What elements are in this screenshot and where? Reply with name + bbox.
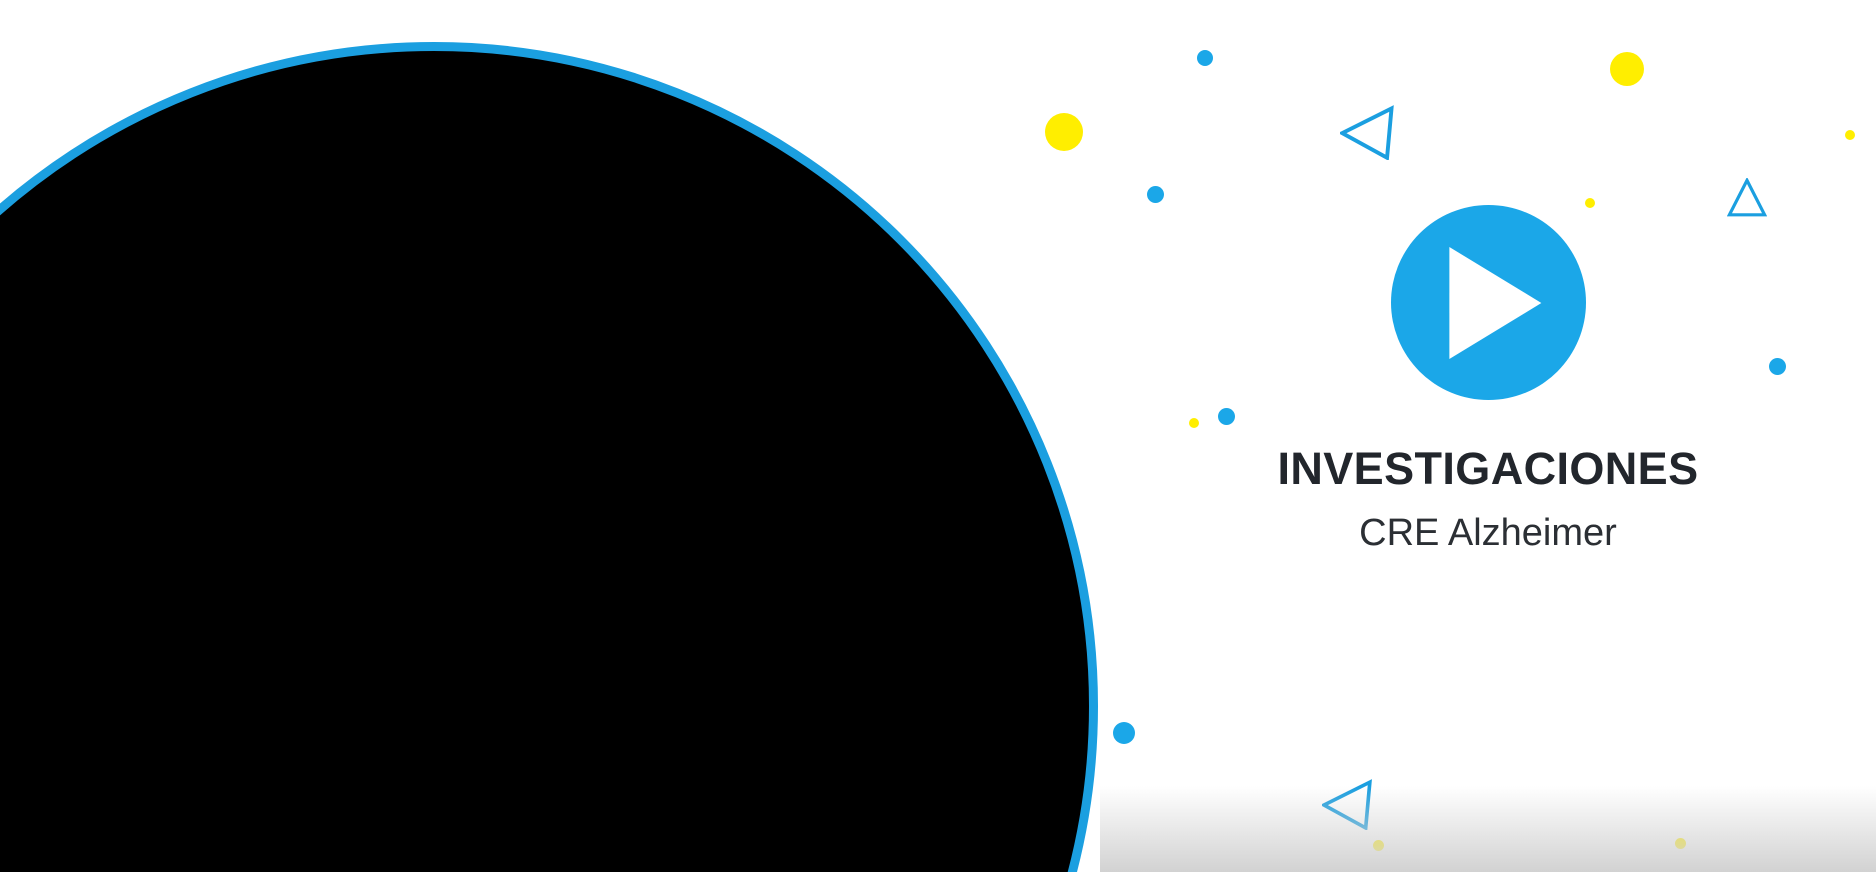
triangle-left-top xyxy=(1340,104,1396,160)
dot-blue-1 xyxy=(1197,50,1213,66)
dot-yellow-1 xyxy=(1045,113,1083,151)
dot-blue-5 xyxy=(1113,722,1135,744)
bottom-gradient-fade xyxy=(1100,786,1876,872)
video-thumbnail-dark-circle xyxy=(0,42,1098,872)
dot-yellow-7 xyxy=(1675,838,1686,849)
page-subtitle: CRE Alzheimer xyxy=(1100,514,1876,554)
page-title: INVESTIGACIONES xyxy=(1100,445,1876,492)
video-thumbnail[interactable] xyxy=(0,0,1130,872)
play-button[interactable] xyxy=(1391,205,1586,400)
dot-yellow-2 xyxy=(1610,52,1644,86)
promo-content: INVESTIGACIONES CRE Alzheimer xyxy=(1100,205,1876,554)
dot-yellow-6 xyxy=(1373,840,1384,851)
play-icon xyxy=(1449,247,1541,359)
promo-panel: INVESTIGACIONES CRE Alzheimer xyxy=(1100,0,1876,872)
triangle-left-bottom xyxy=(1322,778,1374,830)
dot-yellow-4 xyxy=(1845,130,1855,140)
promo-screen: INVESTIGACIONES CRE Alzheimer xyxy=(0,0,1876,872)
dot-blue-2 xyxy=(1147,186,1164,203)
